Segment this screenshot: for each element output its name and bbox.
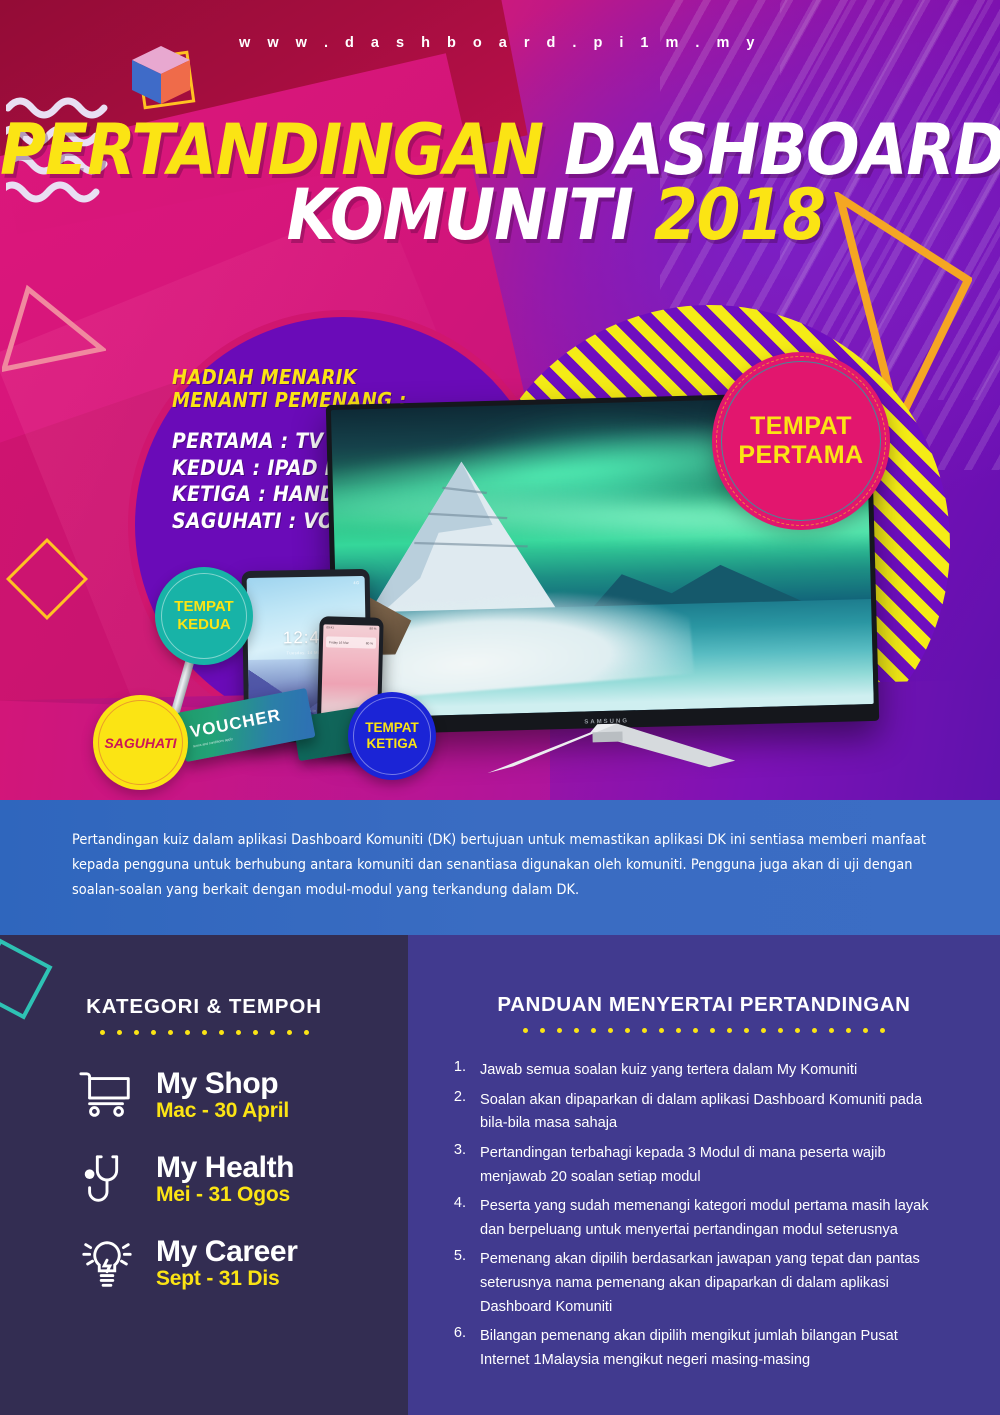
divider-dot xyxy=(676,1028,681,1033)
divider-dot xyxy=(778,1028,783,1033)
description-text: Pertandingan kuiz dalam aplikasi Dashboa… xyxy=(72,828,938,902)
divider-dot xyxy=(270,1030,275,1035)
tablet-status-bar: 4G xyxy=(353,580,359,585)
guide-item: 1. Jawab semua soalan kuiz yang tertera … xyxy=(444,1059,948,1083)
category-item-my-shop: My Shop Mac - 30 April xyxy=(78,1067,408,1125)
shopping-cart-icon xyxy=(78,1067,136,1125)
category-labels: My Shop Mac - 30 April xyxy=(156,1069,289,1124)
categories-dot-divider xyxy=(0,1030,408,1035)
badge-first-place: TEMPAT PERTAMA xyxy=(712,352,890,530)
category-period: Mac - 30 April xyxy=(156,1099,289,1123)
divider-dot xyxy=(659,1028,664,1033)
badge-consolation: SAGUHATI xyxy=(93,695,188,790)
guide-panel: PANDUAN MENYERTAI PERTANDINGAN 1. Jawab … xyxy=(408,935,1000,1415)
divider-dot xyxy=(795,1028,800,1033)
divider-dot xyxy=(202,1030,207,1035)
divider-dot xyxy=(134,1030,139,1035)
guide-number: 3. xyxy=(444,1142,466,1189)
guide-text: Jawab semua soalan kuiz yang tertera dal… xyxy=(480,1059,857,1083)
divider-dot xyxy=(253,1030,258,1035)
divider-dot xyxy=(625,1028,630,1033)
guide-list: 1. Jawab semua soalan kuiz yang tertera … xyxy=(408,1059,1000,1373)
category-item-my-career: My Career Sept - 31 Dis xyxy=(78,1235,408,1293)
pink-triangle-outline xyxy=(2,283,106,375)
guide-dot-divider xyxy=(408,1028,1000,1033)
prize-heading-line-1: Hadiah menarik xyxy=(172,366,472,389)
guide-text: Pertandingan terbahagi kepada 3 Modul di… xyxy=(480,1142,948,1189)
guide-item: 6. Bilangan pemenang akan dipilih mengik… xyxy=(444,1325,948,1372)
category-period: Sept - 31 Dis xyxy=(156,1267,297,1291)
guide-text: Peserta yang sudah memenangi kategori mo… xyxy=(480,1195,948,1242)
categories-heading: KATEGORI & TEMPOH xyxy=(0,995,408,1019)
divider-dot xyxy=(710,1028,715,1033)
phone-status-bar: 09:41 80 % xyxy=(326,625,376,630)
stethoscope-icon xyxy=(78,1151,136,1209)
guide-number: 6. xyxy=(444,1325,466,1372)
category-name: My Shop xyxy=(156,1069,289,1100)
category-labels: My Health Mei - 31 Ogos xyxy=(156,1153,294,1208)
divider-dot xyxy=(693,1028,698,1033)
poster-root: w w w . d a s h b o a r d . p i 1 m . m … xyxy=(0,0,1000,1415)
divider-dot xyxy=(168,1030,173,1035)
guide-heading: PANDUAN MENYERTAI PERTANDINGAN xyxy=(408,993,1000,1017)
divider-dot xyxy=(846,1028,851,1033)
category-name: My Career xyxy=(156,1237,297,1268)
divider-dot xyxy=(151,1030,156,1035)
divider-dot xyxy=(523,1028,528,1033)
divider-dot xyxy=(727,1028,732,1033)
guide-number: 4. xyxy=(444,1195,466,1242)
guide-item: 4. Peserta yang sudah memenangi kategori… xyxy=(444,1195,948,1242)
divider-dot xyxy=(608,1028,613,1033)
guide-item: 5. Pemenang akan dipilih berdasarkan jaw… xyxy=(444,1248,948,1319)
divider-dot xyxy=(812,1028,817,1033)
bottom-sections: KATEGORI & TEMPOH xyxy=(0,935,1000,1415)
guide-text: Soalan akan dipaparkan di dalam aplikasi… xyxy=(480,1089,948,1136)
divider-dot xyxy=(863,1028,868,1033)
divider-dot xyxy=(591,1028,596,1033)
phone-weather-card: Friday 16 Mar 80 % xyxy=(326,636,376,648)
guide-item: 2. Soalan akan dipaparkan di dalam aplik… xyxy=(444,1089,948,1136)
phone-status-battery: 80 % xyxy=(370,626,377,630)
divider-dot xyxy=(540,1028,545,1033)
badge-ring-dashed xyxy=(716,356,886,526)
category-list: My Shop Mac - 30 April My H xyxy=(0,1067,408,1293)
lightbulb-icon xyxy=(78,1235,136,1293)
divider-dot xyxy=(304,1030,309,1035)
divider-dot xyxy=(185,1030,190,1035)
guide-text: Pemenang akan dipilih berdasarkan jawapa… xyxy=(480,1248,948,1319)
categories-panel: KATEGORI & TEMPOH xyxy=(0,935,408,1415)
divider-dot xyxy=(744,1028,749,1033)
category-item-my-health: My Health Mei - 31 Ogos xyxy=(78,1151,408,1209)
phone-card-date: Friday 16 Mar xyxy=(329,640,349,645)
divider-dot xyxy=(829,1028,834,1033)
phone-status-time: 09:41 xyxy=(326,625,334,629)
badge-third-place: TEMPAT KETIGA xyxy=(348,692,436,780)
divider-dot xyxy=(557,1028,562,1033)
category-period: Mei - 31 Ogos xyxy=(156,1183,294,1207)
divider-dot xyxy=(236,1030,241,1035)
guide-item: 3. Pertandingan terbahagi kepada 3 Modul… xyxy=(444,1142,948,1189)
divider-dot xyxy=(100,1030,105,1035)
tv-stand xyxy=(472,720,743,773)
divider-dot xyxy=(642,1028,647,1033)
divider-dot xyxy=(761,1028,766,1033)
category-labels: My Career Sept - 31 Dis xyxy=(156,1237,297,1292)
divider-dot xyxy=(287,1030,292,1035)
description-band: Pertandingan kuiz dalam aplikasi Dashboa… xyxy=(0,800,1000,935)
phone-card-temp: 80 % xyxy=(366,641,373,645)
badge-ring xyxy=(98,700,183,785)
guide-number: 1. xyxy=(444,1059,466,1083)
guide-text: Bilangan pemenang akan dipilih mengikut … xyxy=(480,1325,948,1372)
category-name: My Health xyxy=(156,1153,294,1184)
isometric-cube-icon xyxy=(126,42,196,112)
badge-ring xyxy=(353,697,431,775)
divider-dot xyxy=(117,1030,122,1035)
guide-number: 2. xyxy=(444,1089,466,1136)
divider-dot xyxy=(574,1028,579,1033)
guide-number: 5. xyxy=(444,1248,466,1319)
website-url: w w w . d a s h b o a r d . p i 1 m . m … xyxy=(0,35,1000,51)
divider-dot xyxy=(219,1030,224,1035)
badge-second-place: TEMPAT KEDUA xyxy=(155,567,253,665)
badge-ring xyxy=(161,573,247,659)
divider-dot xyxy=(880,1028,885,1033)
